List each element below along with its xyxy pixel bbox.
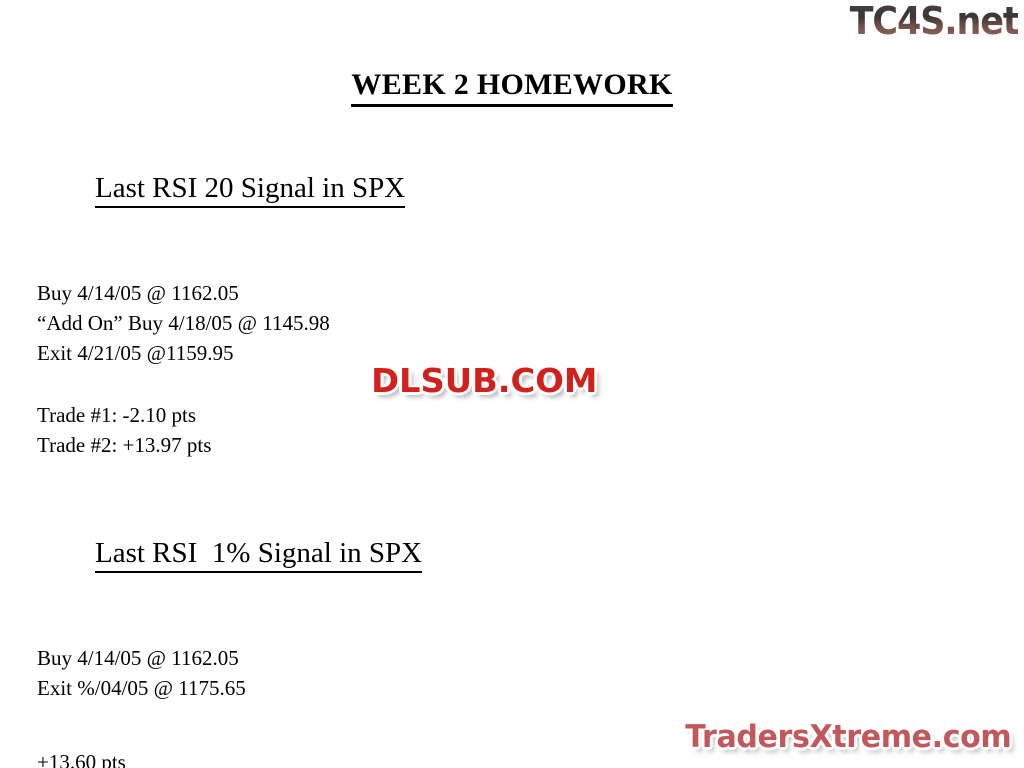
page-title: WEEK 2 HOMEWORK bbox=[0, 68, 1024, 102]
spacer bbox=[37, 704, 737, 748]
result-line: Trade #2: +13.97 pts bbox=[37, 431, 737, 461]
result-line: Trade #1: -2.10 pts bbox=[37, 401, 737, 431]
trade-line: Exit %/04/05 @ 1175.65 bbox=[37, 674, 737, 704]
tc4s-logo: TC4S.net bbox=[849, 2, 1018, 40]
dlsub-watermark: DLSUB.COM bbox=[366, 361, 602, 404]
trade-line: Buy 4/14/05 @ 1162.05 bbox=[37, 279, 737, 309]
trade-line: “Add On” Buy 4/18/05 @ 1145.98 bbox=[37, 309, 737, 339]
page-title-text: WEEK 2 HOMEWORK bbox=[351, 68, 672, 107]
presentation-slide: TC4S.net WEEK 2 HOMEWORK Last RSI 20 Sig… bbox=[0, 0, 1024, 768]
section-heading-text: Last RSI 20 Signal in SPX bbox=[95, 172, 405, 208]
spacer bbox=[37, 602, 737, 644]
tradersxtreme-logo: TradersXtreme.com bbox=[680, 717, 1016, 760]
section-heading: Last RSI 20 Signal in SPX bbox=[37, 140, 737, 237]
result-line: +13.60 pts bbox=[37, 748, 737, 768]
spacer bbox=[37, 460, 737, 504]
section-rsi-20: Last RSI 20 Signal in SPX Buy 4/14/05 @ … bbox=[37, 140, 737, 460]
slide-body: Last RSI 20 Signal in SPX Buy 4/14/05 @ … bbox=[37, 140, 737, 768]
spacer bbox=[37, 237, 737, 279]
section-heading: Last RSI 1% Signal in SPX bbox=[37, 504, 737, 601]
section-heading-text: Last RSI 1% Signal in SPX bbox=[95, 537, 422, 573]
trade-line: Buy 4/14/05 @ 1162.05 bbox=[37, 644, 737, 674]
section-rsi-1pct: Last RSI 1% Signal in SPX Buy 4/14/05 @ … bbox=[37, 504, 737, 768]
